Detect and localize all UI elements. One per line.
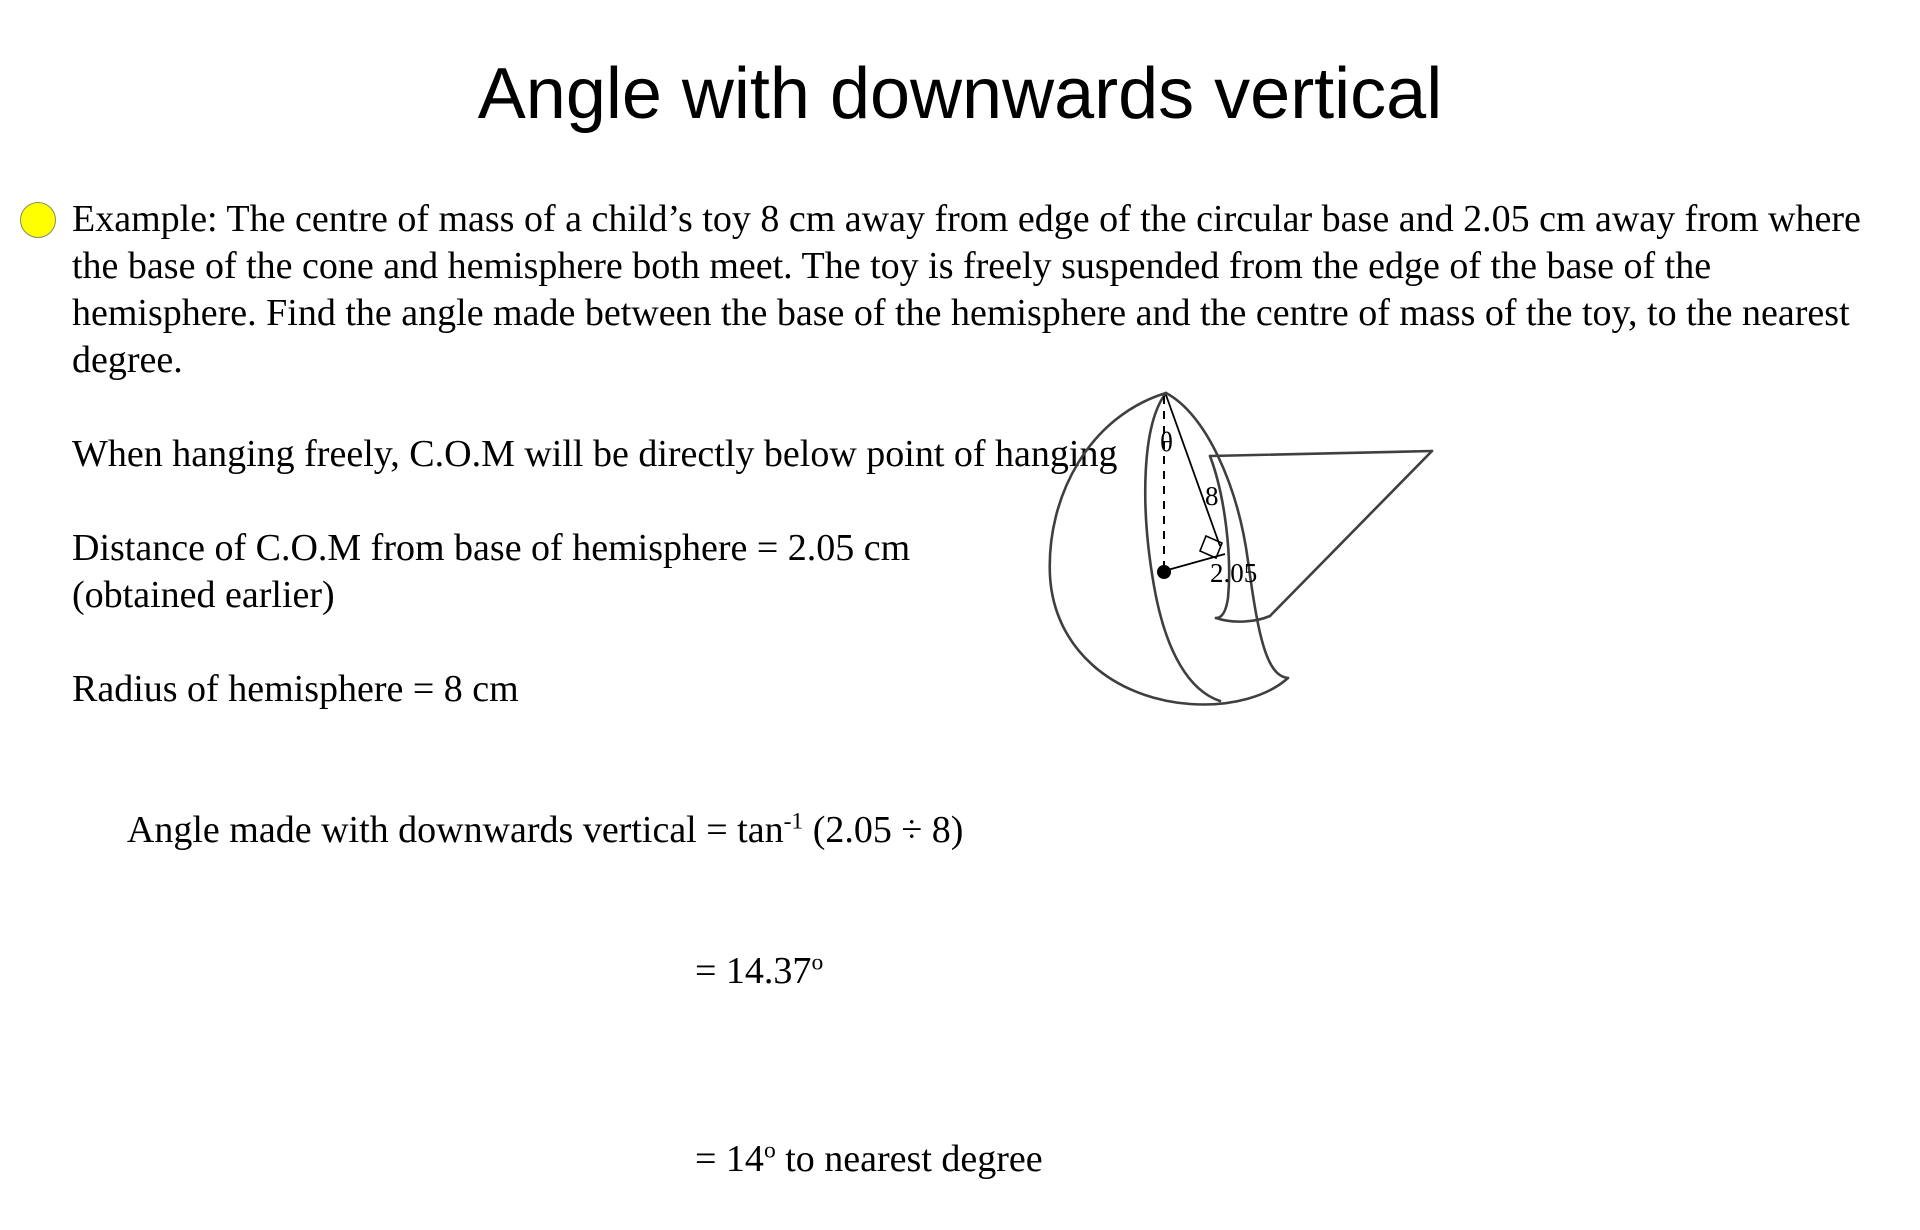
spacer [18, 619, 1898, 666]
right-angle-marker-icon [1200, 536, 1222, 558]
equation-line-1: Angle made with downwards vertical = tan… [72, 760, 1898, 901]
centre-of-mass-dot-icon [1157, 565, 1171, 579]
equation-lead-tail: (2.05 ÷ 8) [803, 809, 963, 851]
final-answer-prefix: = 14 [695, 1138, 764, 1180]
statement-hanging-freely: When hanging freely, C.O.M will be direc… [72, 431, 1898, 478]
example-paragraph: Example: The centre of mass of a child’s… [72, 196, 1898, 384]
spacer [18, 1042, 1898, 1089]
degree-symbol: o [764, 1137, 776, 1163]
final-answer-suffix: to nearest degree [776, 1138, 1043, 1180]
equation-line-2: = 14.37o [638, 901, 1898, 1042]
cone-hemisphere-diagram: θ 8 2.05 [1020, 386, 1490, 731]
statement-obtained-earlier: (obtained earlier) [72, 572, 1898, 619]
figure-label-offset: 2.05 [1210, 558, 1257, 588]
figure-label-theta: θ [1160, 427, 1173, 457]
yellow-circle-bullet-icon [20, 202, 56, 238]
body-content: Example: The centre of mass of a child’s… [18, 196, 1898, 1230]
statement-radius: Radius of hemisphere = 8 cm [72, 666, 1898, 713]
equation-result: = 14.37 [695, 950, 811, 992]
spacer [18, 384, 1898, 431]
equation-lead: Angle made with downwards vertical = tan [127, 809, 784, 851]
spacer [18, 478, 1898, 525]
spacer [18, 713, 1898, 760]
equation-exponent: -1 [784, 808, 804, 834]
slide-canvas: Angle with downwards vertical Example: T… [0, 0, 1920, 1080]
bullet-list-item: Example: The centre of mass of a child’s… [18, 196, 1898, 384]
page-title: Angle with downwards vertical [0, 52, 1920, 136]
equation-line-3: = 14o to nearest degree [638, 1089, 1898, 1230]
degree-symbol: o [811, 949, 823, 975]
statement-distance-com: Distance of C.O.M from base of hemispher… [72, 525, 1898, 572]
figure-label-radius: 8 [1205, 481, 1219, 511]
